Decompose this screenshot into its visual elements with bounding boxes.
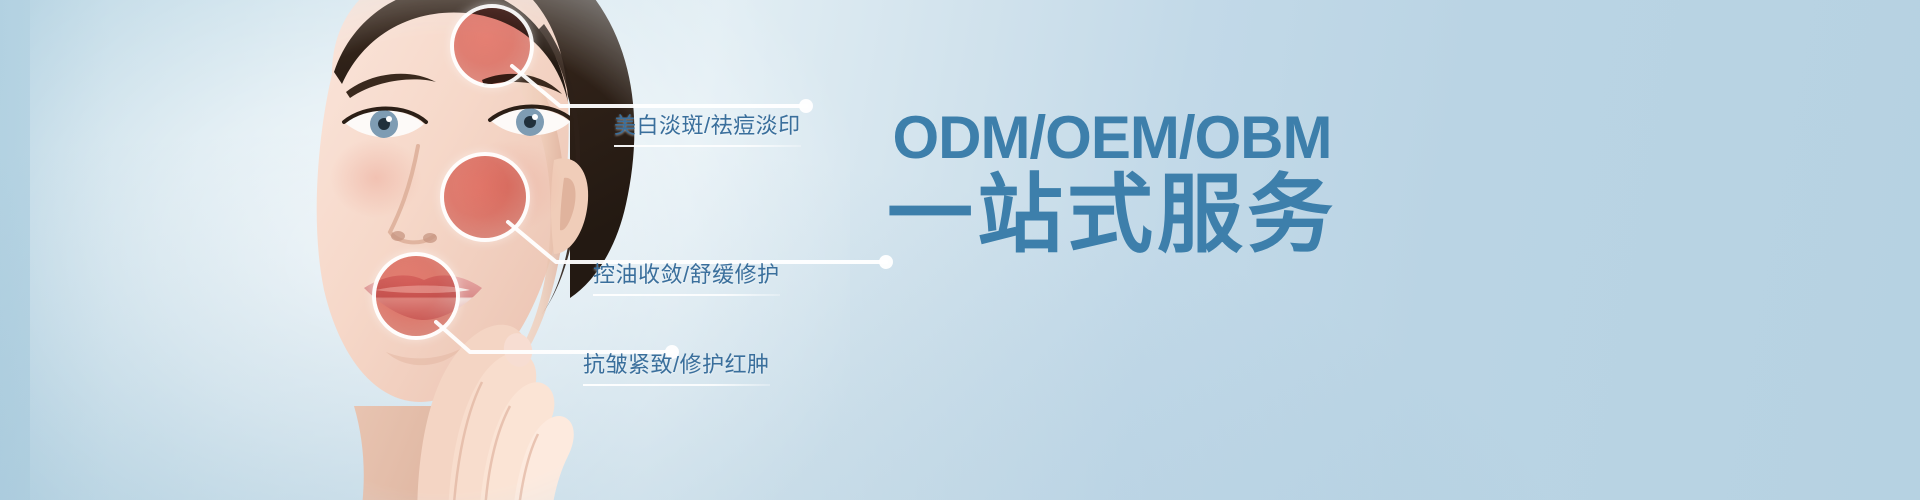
model-photo-fade	[118, 0, 678, 500]
headline-block: ODM/OEM/OBM 一站式服务	[842, 108, 1382, 258]
headline-chinese: 一站式服务	[842, 172, 1382, 258]
skin-zone-fill	[376, 256, 456, 336]
promo-banner: 美白淡斑/祛痘淡印 控油收敛/舒缓修护 抗皱紧致/修护红肿 ODM/OEM/OB…	[0, 0, 1920, 500]
callout-label-whitening[interactable]: 美白淡斑/祛痘淡印	[614, 108, 801, 147]
skin-zone-fill	[454, 8, 530, 84]
callout-label-anti-wrinkle[interactable]: 抗皱紧致/修护红肿	[583, 347, 770, 386]
model-photo	[118, 0, 678, 500]
callout-label-oil-control[interactable]: 控油收敛/舒缓修护	[593, 257, 780, 296]
skin-zone-fill	[444, 156, 526, 238]
headline-english: ODM/OEM/OBM	[842, 108, 1382, 168]
skin-zone-chin[interactable]	[372, 252, 460, 340]
skin-zone-forehead[interactable]	[450, 4, 534, 88]
skin-zone-cheek[interactable]	[440, 152, 530, 242]
